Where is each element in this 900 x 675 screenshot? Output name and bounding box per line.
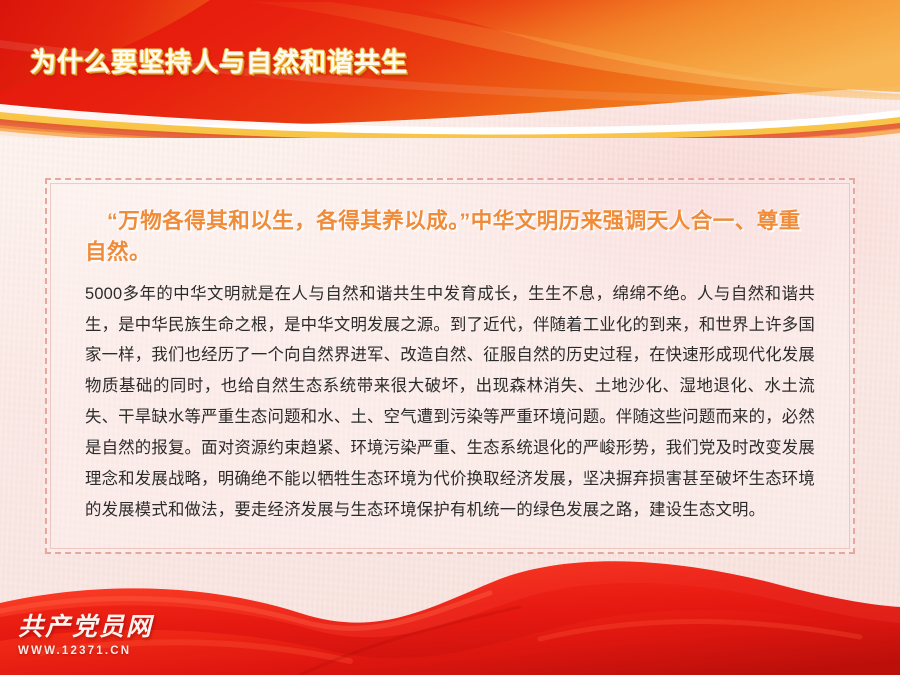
logo-url-text: WWW.12371.CN xyxy=(18,645,168,657)
site-logo[interactable]: 共产党员网 WWW.12371.CN xyxy=(18,615,168,657)
content-frame-inner-border: “万物各得其和以生，各得其养以成。”中华文明历来强调天人合一、尊重自然。 500… xyxy=(50,183,850,549)
content-frame: “万物各得其和以生，各得其养以成。”中华文明历来强调天人合一、尊重自然。 500… xyxy=(45,178,855,554)
logo-wordmark: 共产党员网 xyxy=(18,615,168,640)
poster-canvas: 为什么要坚持人与自然和谐共生 “万物各得其和以生，各得其养以成。”中华文明历来强… xyxy=(0,0,900,675)
page-title: 为什么要坚持人与自然和谐共生 xyxy=(30,42,408,79)
quote-heading: “万物各得其和以生，各得其养以成。”中华文明历来强调天人合一、尊重自然。 xyxy=(85,206,815,269)
body-paragraph: 5000多年的中华文明就是在人与自然和谐共生中发育成长，生生不息，绵绵不绝。人与… xyxy=(85,279,815,526)
header-banner: 为什么要坚持人与自然和谐共生 xyxy=(0,0,900,138)
